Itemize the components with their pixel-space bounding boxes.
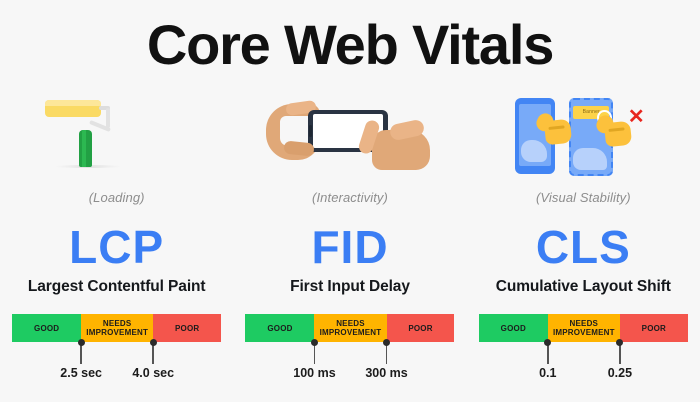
marker-dot — [544, 339, 551, 346]
metric-acronym: LCP — [69, 223, 164, 271]
segment-needs-line2: IMPROVEMENT — [86, 328, 148, 337]
marker-label: 2.5 sec — [60, 366, 102, 380]
pointer-hand-icon-left — [544, 119, 572, 146]
threshold-bar: GOOD NEEDSIMPROVEMENT POOR — [245, 314, 454, 342]
marker-dot — [78, 339, 85, 346]
segment-poor: POOR — [153, 314, 221, 342]
marker-dot — [616, 339, 623, 346]
segment-needs-line1: NEEDS — [336, 319, 365, 328]
marker-label: 100 ms — [293, 366, 335, 380]
segment-needs-line2: IMPROVEMENT — [320, 328, 382, 337]
page-title: Core Web Vitals — [0, 14, 700, 76]
segment-needs-improvement: NEEDSIMPROVEMENT — [81, 314, 153, 342]
segment-needs-line1: NEEDS — [570, 319, 599, 328]
paint-roller-icon — [17, 92, 217, 184]
threshold-bar: GOOD NEEDSIMPROVEMENT POOR — [12, 314, 221, 342]
metric-acronym: FID — [311, 223, 388, 271]
metric-acronym: CLS — [536, 223, 631, 271]
hands-tapping-phone-icon — [250, 92, 450, 184]
threshold-bar: GOOD NEEDSIMPROVEMENT POOR — [479, 314, 688, 342]
marker-label: 300 ms — [365, 366, 407, 380]
phone-speaker — [309, 125, 312, 137]
scale-lcp: GOOD NEEDSIMPROVEMENT POOR 2.5 sec 4.0 s… — [0, 314, 233, 342]
marker-label: 0.1 — [539, 366, 556, 380]
segment-needs-improvement: NEEDSIMPROVEMENT — [314, 314, 386, 342]
shifting-layout-phones-icon: Banner ✕ — [483, 92, 683, 184]
marker-label: 0.25 — [608, 366, 632, 380]
metrics-columns: (Loading) LCP Largest Contentful Paint (… — [0, 92, 700, 296]
roller-head — [45, 100, 101, 117]
metric-caption: (Loading) — [89, 190, 145, 205]
segment-poor: POOR — [387, 314, 455, 342]
metric-column-cls: Banner ✕ (Visual Stability) CLS Cumulati… — [467, 92, 700, 296]
segment-good: GOOD — [479, 314, 548, 342]
marker-dot — [311, 339, 318, 346]
metric-column-fid: (Interactivity) FID First Input Delay — [233, 92, 466, 296]
roller-handle — [79, 130, 92, 167]
metric-column-lcp: (Loading) LCP Largest Contentful Paint — [0, 92, 233, 296]
segment-good: GOOD — [12, 314, 81, 342]
metric-caption: (Interactivity) — [312, 190, 388, 205]
roller-arm-vertical — [106, 108, 110, 128]
scale-fid: GOOD NEEDSIMPROVEMENT POOR 100 ms 300 ms — [233, 314, 466, 342]
metric-caption: (Visual Stability) — [536, 190, 631, 205]
marker-label: 4.0 sec — [132, 366, 174, 380]
segment-needs-improvement: NEEDSIMPROVEMENT — [548, 314, 620, 342]
red-x-icon: ✕ — [627, 108, 645, 126]
marker-dot — [383, 339, 390, 346]
segment-poor: POOR — [620, 314, 688, 342]
scale-cls: GOOD NEEDSIMPROVEMENT POOR 0.1 0.25 — [467, 314, 700, 342]
marker-dot — [150, 339, 157, 346]
metric-fullname: Cumulative Layout Shift — [496, 278, 671, 296]
content-blob-shifted — [573, 148, 607, 170]
segment-good: GOOD — [245, 314, 314, 342]
metric-fullname: Largest Contentful Paint — [28, 278, 206, 296]
segment-needs-line1: NEEDS — [103, 319, 132, 328]
segment-needs-line2: IMPROVEMENT — [553, 328, 615, 337]
metric-fullname: First Input Delay — [290, 278, 410, 296]
content-blob — [521, 140, 547, 162]
threshold-scales: GOOD NEEDSIMPROVEMENT POOR 2.5 sec 4.0 s… — [0, 314, 700, 342]
